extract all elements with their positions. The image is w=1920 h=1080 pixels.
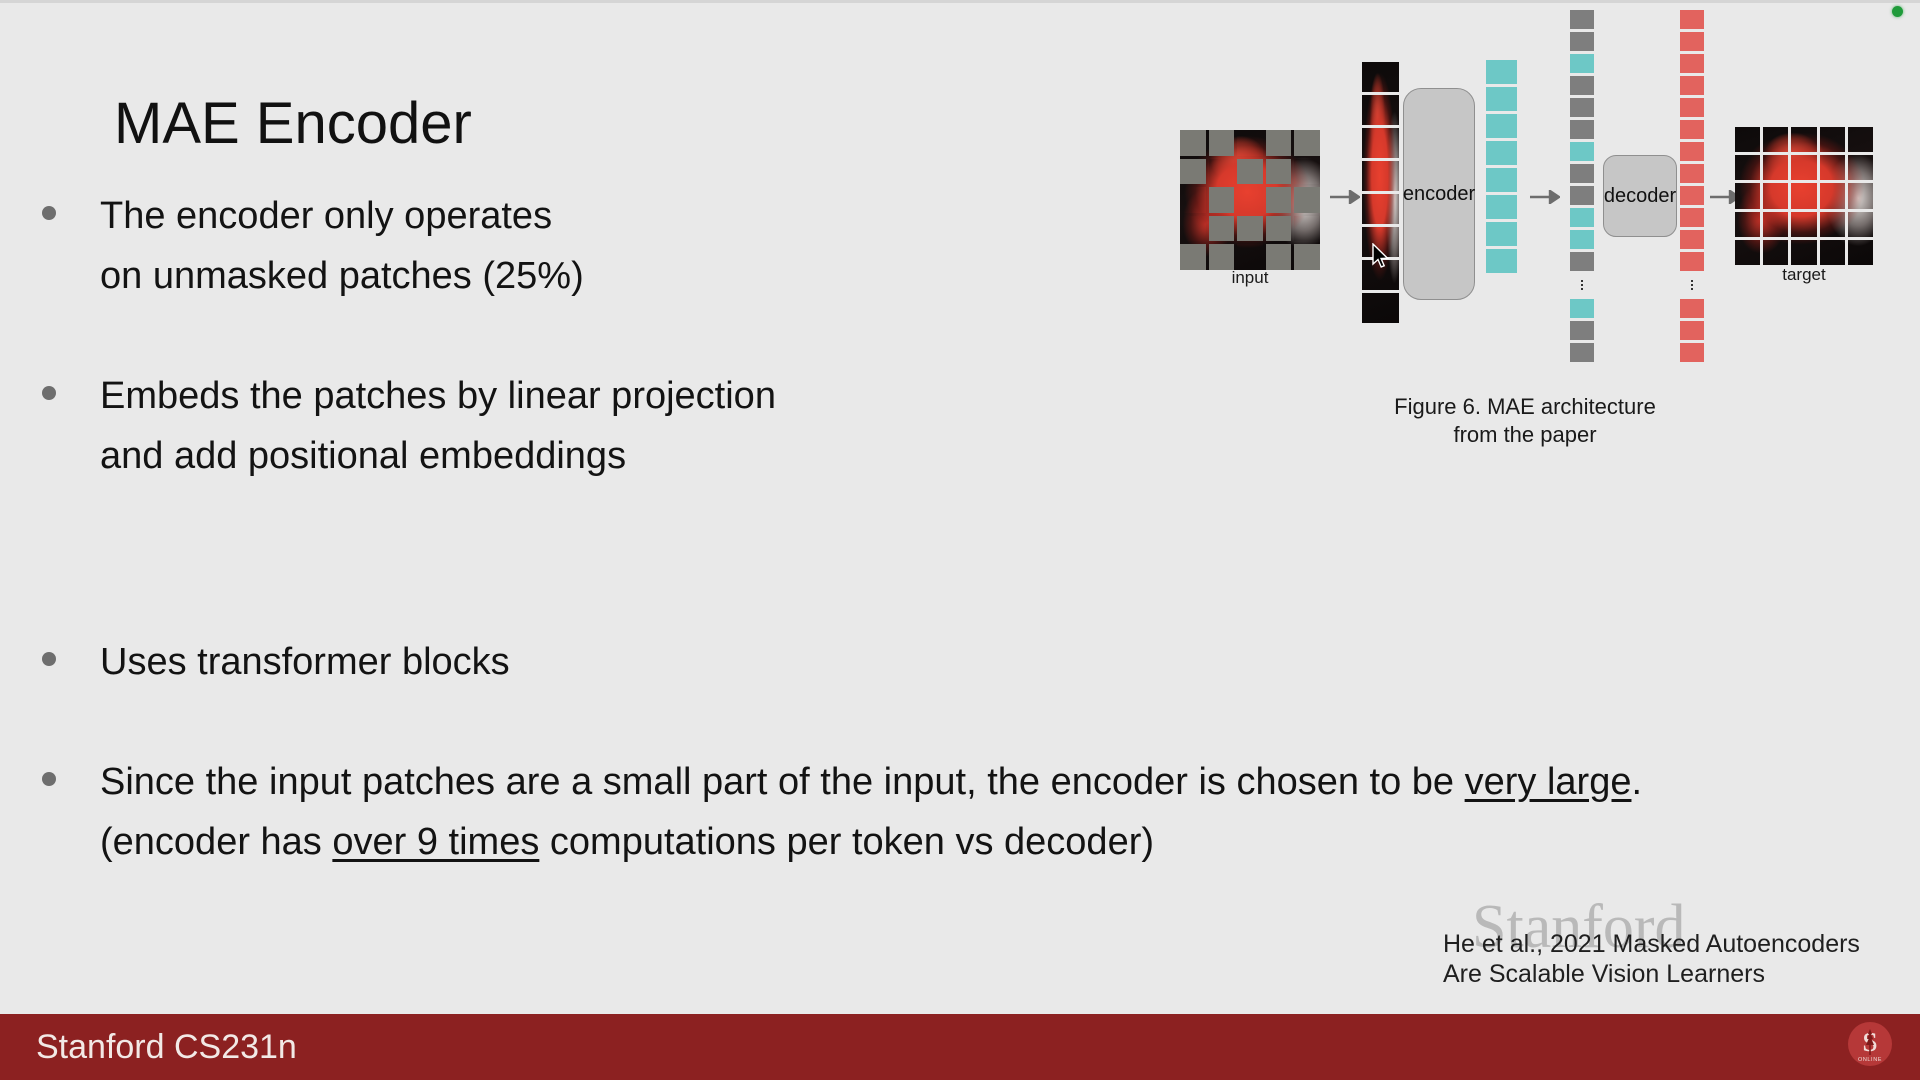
input-patch-masked bbox=[1294, 130, 1320, 156]
input-patch-masked bbox=[1209, 187, 1235, 213]
encoded-token bbox=[1486, 249, 1517, 273]
input-patch-masked bbox=[1294, 244, 1320, 270]
input-masked-grid bbox=[1180, 130, 1320, 270]
encoded-token bbox=[1570, 54, 1594, 73]
reconstructed-token bbox=[1680, 54, 1704, 73]
bullet-text-1: The encoder only operates on unmasked pa… bbox=[100, 186, 584, 306]
mixed-token-column bbox=[1570, 10, 1594, 362]
figure-label-target: target bbox=[1735, 265, 1873, 285]
encoded-token bbox=[1486, 141, 1517, 165]
input-patch-masked bbox=[1266, 216, 1292, 242]
visible-patch bbox=[1362, 128, 1399, 158]
bullet-text-4: Since the input patches are a small part… bbox=[100, 752, 1702, 872]
encoded-token bbox=[1486, 87, 1517, 111]
encoded-token bbox=[1486, 168, 1517, 192]
bullet-dot-icon bbox=[42, 386, 56, 400]
reconstructed-token bbox=[1680, 76, 1704, 95]
target-patch bbox=[1820, 155, 1845, 180]
ellipsis-icon bbox=[1680, 274, 1704, 296]
mask-token bbox=[1570, 321, 1594, 340]
input-patch-masked bbox=[1294, 187, 1320, 213]
reconstructed-token bbox=[1680, 186, 1704, 205]
reconstructed-token bbox=[1680, 10, 1704, 29]
mask-token bbox=[1570, 76, 1594, 95]
arrow-right-icon bbox=[1330, 190, 1360, 204]
input-patch-masked bbox=[1266, 159, 1292, 185]
reconstructed-token bbox=[1680, 142, 1704, 161]
input-patch-visible bbox=[1294, 159, 1320, 185]
encoded-token bbox=[1486, 195, 1517, 219]
target-patch bbox=[1848, 183, 1873, 208]
reconstructed-token bbox=[1680, 230, 1704, 249]
visible-patch bbox=[1362, 95, 1399, 125]
mask-token bbox=[1570, 252, 1594, 271]
input-patch-masked bbox=[1266, 130, 1292, 156]
input-patch-visible bbox=[1180, 216, 1206, 242]
footer-course-title: Stanford CS231n bbox=[36, 1028, 297, 1067]
mask-token bbox=[1570, 32, 1594, 51]
target-patch bbox=[1763, 183, 1788, 208]
target-patch bbox=[1735, 212, 1760, 237]
presentation-slide: MAE Encoder The encoder only operates on… bbox=[0, 0, 1920, 1080]
target-patch bbox=[1791, 240, 1816, 265]
bullet-4-emphasis-very-large: very large bbox=[1465, 761, 1632, 803]
bullet-text-2: Embeds the patches by linear projection … bbox=[100, 366, 776, 486]
mae-architecture-figure: input encoder decoder target bbox=[1180, 0, 1920, 400]
target-patch bbox=[1735, 127, 1760, 152]
visible-patch bbox=[1362, 161, 1399, 191]
encoded-token bbox=[1570, 299, 1594, 318]
arrow-right-icon bbox=[1530, 190, 1560, 204]
recording-indicator-dot bbox=[1892, 6, 1903, 17]
bullet-dot-icon bbox=[42, 772, 56, 786]
target-patch bbox=[1791, 127, 1816, 152]
mask-token bbox=[1570, 120, 1594, 139]
visible-patch bbox=[1362, 62, 1399, 92]
target-patch bbox=[1820, 183, 1845, 208]
reconstructed-token bbox=[1680, 164, 1704, 183]
input-patch-masked bbox=[1180, 244, 1206, 270]
decoder-block: decoder bbox=[1603, 155, 1677, 237]
encoder-block: encoder bbox=[1403, 88, 1475, 300]
encoded-token bbox=[1570, 208, 1594, 227]
visible-patch bbox=[1362, 194, 1399, 224]
encoded-token-column bbox=[1486, 60, 1517, 273]
mask-token bbox=[1570, 343, 1594, 362]
reconstructed-token bbox=[1680, 343, 1704, 362]
input-patch-masked bbox=[1266, 244, 1292, 270]
reconstructed-token-column bbox=[1680, 10, 1704, 362]
bullet-item-3: Uses transformer blocks bbox=[42, 632, 862, 692]
encoded-token bbox=[1570, 142, 1594, 161]
visible-patch bbox=[1362, 293, 1399, 323]
bullet-4-part1: Since the input patches are a small part… bbox=[100, 761, 1465, 803]
figure-label-input: input bbox=[1180, 268, 1320, 288]
stanford-online-logo: S ONLINE bbox=[1848, 1022, 1898, 1072]
bullet-item-1: The encoder only operates on unmasked pa… bbox=[42, 186, 862, 306]
input-patch-masked bbox=[1180, 130, 1206, 156]
target-patch bbox=[1763, 127, 1788, 152]
encoded-token bbox=[1570, 230, 1594, 249]
logo-circle: S ONLINE bbox=[1848, 1022, 1892, 1066]
target-patch bbox=[1820, 240, 1845, 265]
target-patch bbox=[1848, 155, 1873, 180]
input-patch-masked bbox=[1209, 244, 1235, 270]
decoder-label: decoder bbox=[1604, 185, 1676, 208]
target-patch bbox=[1791, 155, 1816, 180]
target-patch bbox=[1848, 127, 1873, 152]
reconstructed-token bbox=[1680, 252, 1704, 271]
encoded-token bbox=[1486, 222, 1517, 246]
target-patch bbox=[1735, 155, 1760, 180]
target-image-grid bbox=[1735, 127, 1873, 265]
encoder-label: encoder bbox=[1403, 183, 1475, 206]
target-patch bbox=[1848, 212, 1873, 237]
bullet-item-4: Since the input patches are a small part… bbox=[42, 752, 1702, 872]
page-title: MAE Encoder bbox=[114, 90, 472, 157]
target-patch bbox=[1763, 240, 1788, 265]
target-patch bbox=[1763, 212, 1788, 237]
target-patch bbox=[1763, 155, 1788, 180]
input-patch-visible bbox=[1237, 187, 1263, 213]
input-patch-visible bbox=[1237, 130, 1263, 156]
encoded-token bbox=[1486, 114, 1517, 138]
target-patch bbox=[1791, 183, 1816, 208]
input-patch-visible bbox=[1209, 159, 1235, 185]
reconstructed-token bbox=[1680, 32, 1704, 51]
reconstructed-token bbox=[1680, 299, 1704, 318]
mask-token bbox=[1570, 98, 1594, 117]
bullet-dot-icon bbox=[42, 652, 56, 666]
bullet-4-part3: computations per token vs decoder) bbox=[539, 821, 1154, 863]
input-patch-masked bbox=[1209, 130, 1235, 156]
target-patch bbox=[1735, 240, 1760, 265]
input-patch-masked bbox=[1209, 216, 1235, 242]
target-patch bbox=[1848, 240, 1873, 265]
target-patch bbox=[1820, 127, 1845, 152]
mouse-cursor-icon bbox=[1371, 243, 1391, 271]
logo-online-text: ONLINE bbox=[1848, 1057, 1892, 1063]
bullet-item-2: Embeds the patches by linear projection … bbox=[42, 366, 1002, 486]
target-patch bbox=[1820, 212, 1845, 237]
mask-token bbox=[1570, 186, 1594, 205]
input-patch-masked bbox=[1180, 159, 1206, 185]
bullet-text-3: Uses transformer blocks bbox=[100, 632, 510, 692]
reconstructed-token bbox=[1680, 321, 1704, 340]
bullet-dot-icon bbox=[42, 206, 56, 220]
ellipsis-icon bbox=[1570, 274, 1594, 296]
tree-icon bbox=[1862, 1029, 1878, 1055]
figure-caption: Figure 6. MAE architecture from the pape… bbox=[1345, 393, 1705, 448]
visible-patches-strip bbox=[1362, 62, 1399, 323]
input-patch-masked bbox=[1237, 159, 1263, 185]
encoded-token bbox=[1486, 60, 1517, 84]
mask-token bbox=[1570, 164, 1594, 183]
reconstructed-token bbox=[1680, 98, 1704, 117]
target-patch bbox=[1735, 183, 1760, 208]
footer-bar: Stanford CS231n S ONLINE bbox=[0, 1014, 1920, 1080]
input-patch-visible bbox=[1180, 187, 1206, 213]
input-patch-masked bbox=[1237, 216, 1263, 242]
bullet-4-emphasis-over-9-times: over 9 times bbox=[332, 821, 539, 863]
mask-token bbox=[1570, 10, 1594, 29]
input-patch-masked bbox=[1266, 187, 1292, 213]
input-patch-visible bbox=[1294, 216, 1320, 242]
reconstructed-token bbox=[1680, 208, 1704, 227]
input-patch-visible bbox=[1237, 244, 1263, 270]
target-patch bbox=[1791, 212, 1816, 237]
paper-citation: He et al., 2021 Masked Autoencoders Are … bbox=[1443, 930, 1913, 989]
reconstructed-token bbox=[1680, 120, 1704, 139]
